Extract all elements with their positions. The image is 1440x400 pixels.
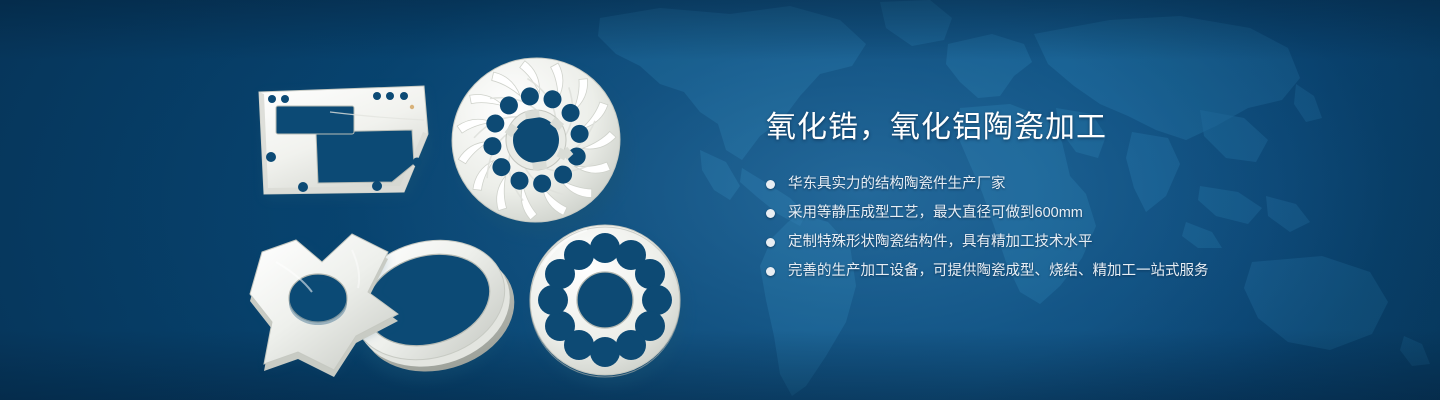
ceramic-impeller-disc [441, 46, 638, 246]
feature-text: 采用等静压成型工艺，最大直径可做到600mm [788, 203, 1083, 224]
bullet-dot-icon [766, 209, 775, 218]
list-item: 定制特殊形状陶瓷结构件，具有精加工技术水平 [766, 232, 1406, 253]
list-item: 华东具实力的结构陶瓷件生产厂家 [766, 174, 1406, 195]
feature-text: 定制特殊形状陶瓷结构件，具有精加工技术水平 [788, 232, 1093, 253]
feature-text: 华东具实力的结构陶瓷件生产厂家 [788, 174, 1006, 195]
ceramic-products-image [0, 0, 720, 400]
banner-copy: 氧化锆，氧化铝陶瓷加工 华东具实力的结构陶瓷件生产厂家 采用等静压成型工艺，最大… [766, 108, 1406, 282]
bullet-dot-icon [766, 180, 775, 189]
list-item: 采用等静压成型工艺，最大直径可做到600mm [766, 203, 1406, 224]
feature-text: 完善的生产加工设备，可提供陶瓷成型、烧结、精加工一站式服务 [788, 261, 1209, 282]
bullet-dot-icon [766, 238, 775, 247]
feature-list: 华东具实力的结构陶瓷件生产厂家 采用等静压成型工艺，最大直径可做到600mm 定… [766, 174, 1406, 282]
ceramic-processing-banner: 氧化锆，氧化铝陶瓷加工 华东具实力的结构陶瓷件生产厂家 采用等静压成型工艺，最大… [0, 0, 1440, 400]
bullet-dot-icon [766, 267, 775, 276]
list-item: 完善的生产加工设备，可提供陶瓷成型、烧结、精加工一站式服务 [766, 261, 1406, 282]
ceramic-perforated-disc [530, 225, 685, 386]
ceramic-mounting-plate [259, 86, 430, 198]
page-title: 氧化锆，氧化铝陶瓷加工 [766, 108, 1406, 148]
